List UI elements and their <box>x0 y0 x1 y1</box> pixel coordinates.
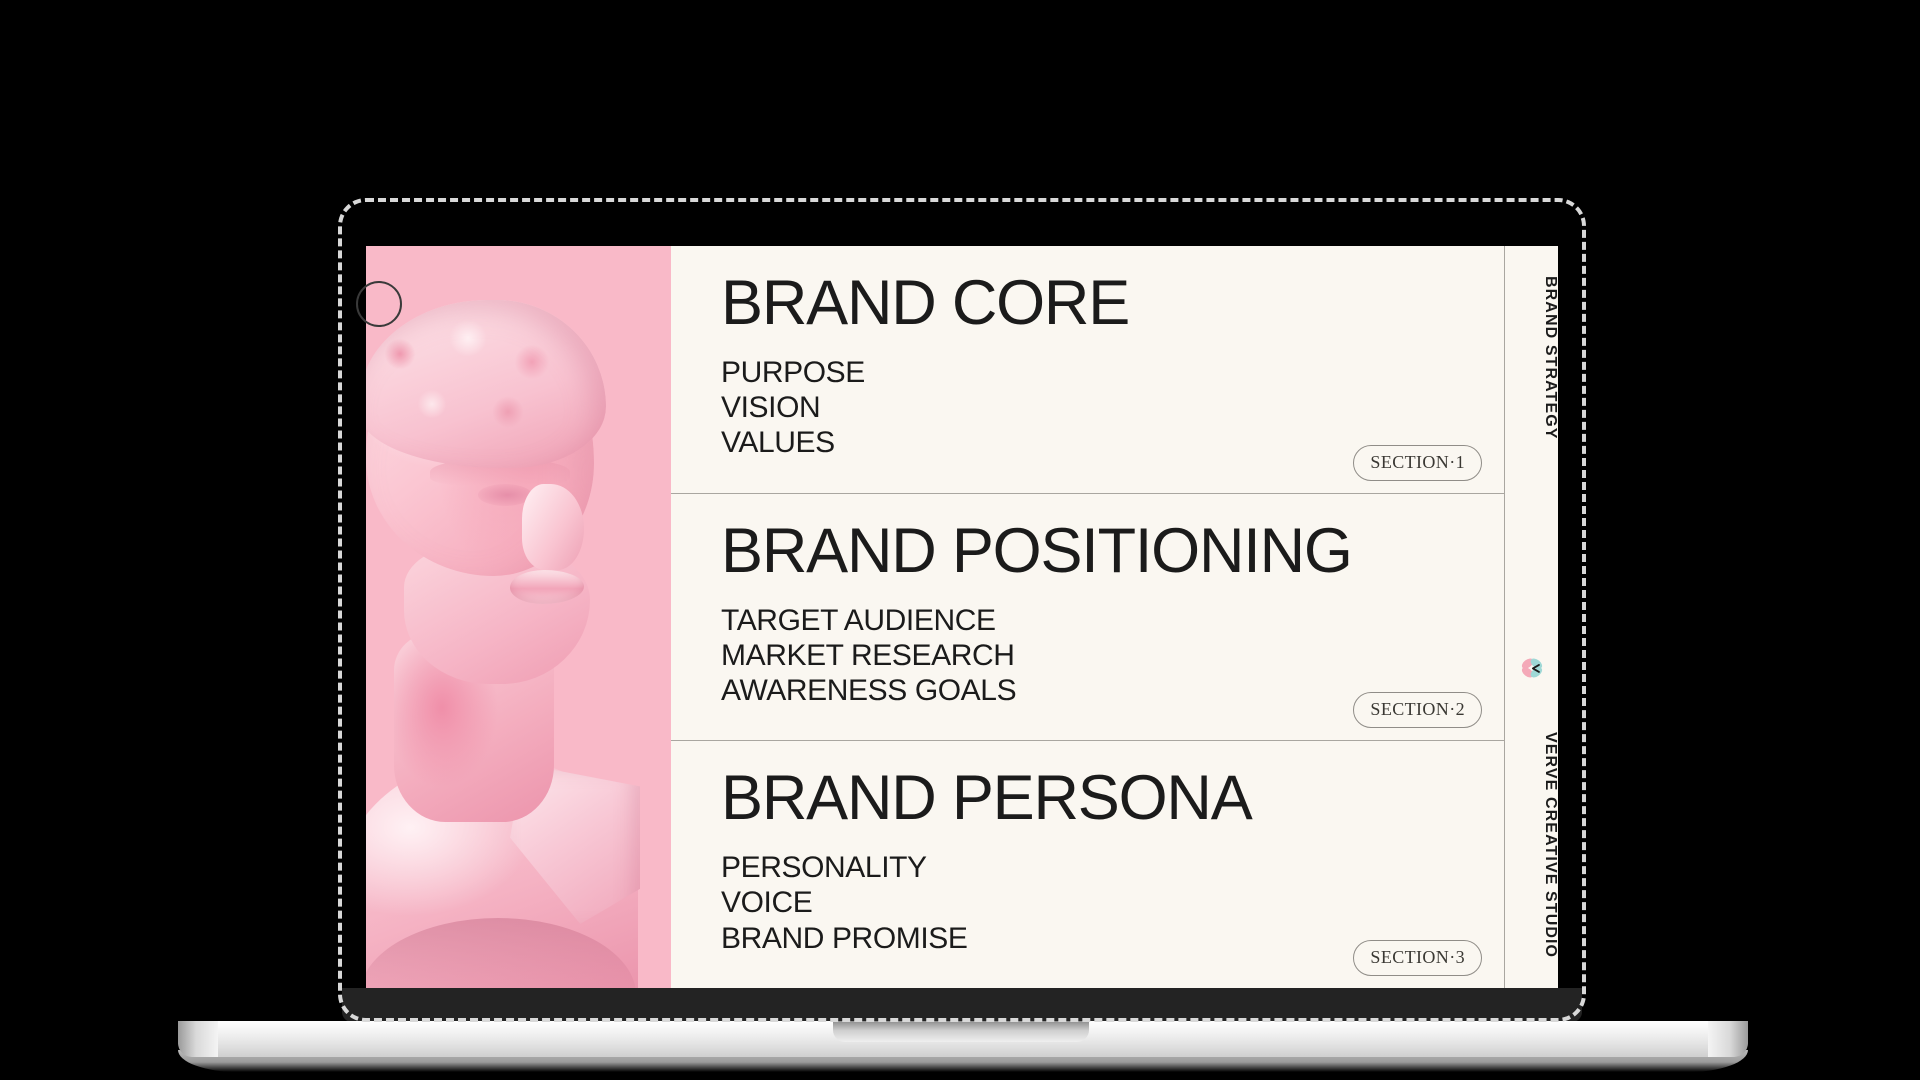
right-vertical-rail: BRAND STRATEGY VERVE CREATIVE STUDIO <box>1504 246 1558 988</box>
list-item: BRAND PROMISE <box>721 921 1458 956</box>
section-badge[interactable]: SECTION·2 <box>1353 692 1482 728</box>
laptop-base-notch <box>833 1021 1089 1042</box>
list-item: PURPOSE <box>721 355 1458 390</box>
sections-column: BRAND CORE PURPOSE VISION VALUES SECTION… <box>671 246 1504 988</box>
section-item-list: PERSONALITY VOICE BRAND PROMISE <box>721 850 1458 955</box>
bust-hair <box>366 300 606 468</box>
bust-nose <box>522 484 584 570</box>
section-brand-core: BRAND CORE PURPOSE VISION VALUES SECTION… <box>671 246 1504 494</box>
list-item: MARKET RESEARCH <box>721 638 1458 673</box>
laptop-bottom-bezel <box>342 988 1582 1022</box>
laptop-screen: BRAND CORE PURPOSE VISION VALUES SECTION… <box>366 246 1558 988</box>
section-title: BRAND POSITIONING <box>721 520 1458 583</box>
statue-image-panel <box>366 246 671 988</box>
laptop-base-left-cap <box>178 1021 218 1057</box>
section-badge[interactable]: SECTION·3 <box>1353 940 1482 976</box>
section-title: BRAND PERSONA <box>721 767 1458 830</box>
list-item: VOICE <box>721 885 1458 920</box>
list-item: AWARENESS GOALS <box>721 673 1458 708</box>
section-badge[interactable]: SECTION·1 <box>1353 445 1482 481</box>
section-brand-positioning: BRAND POSITIONING TARGET AUDIENCE MARKET… <box>671 494 1504 742</box>
list-item: VISION <box>721 390 1458 425</box>
section-brand-persona: BRAND PERSONA PERSONALITY VOICE BRAND PR… <box>671 741 1504 988</box>
pink-bust-statue-image <box>366 308 660 988</box>
list-item: PERSONALITY <box>721 850 1458 885</box>
verve-butterfly-logo-icon <box>1518 654 1546 682</box>
section-item-list: TARGET AUDIENCE MARKET RESEARCH AWARENES… <box>721 603 1458 708</box>
screenshot-canvas: BRAND CORE PURPOSE VISION VALUES SECTION… <box>0 0 1920 1080</box>
section-title: BRAND CORE <box>721 272 1458 335</box>
rail-label-studio-name: VERVE CREATIVE STUDIO <box>1505 732 1558 958</box>
laptop-base-right-cap <box>1708 1021 1748 1057</box>
selection-handle-left[interactable] <box>356 281 402 327</box>
list-item: VALUES <box>721 425 1458 460</box>
section-item-list: PURPOSE VISION VALUES <box>721 355 1458 460</box>
list-item: TARGET AUDIENCE <box>721 603 1458 638</box>
rail-label-brand-strategy: BRAND STRATEGY <box>1505 276 1558 440</box>
